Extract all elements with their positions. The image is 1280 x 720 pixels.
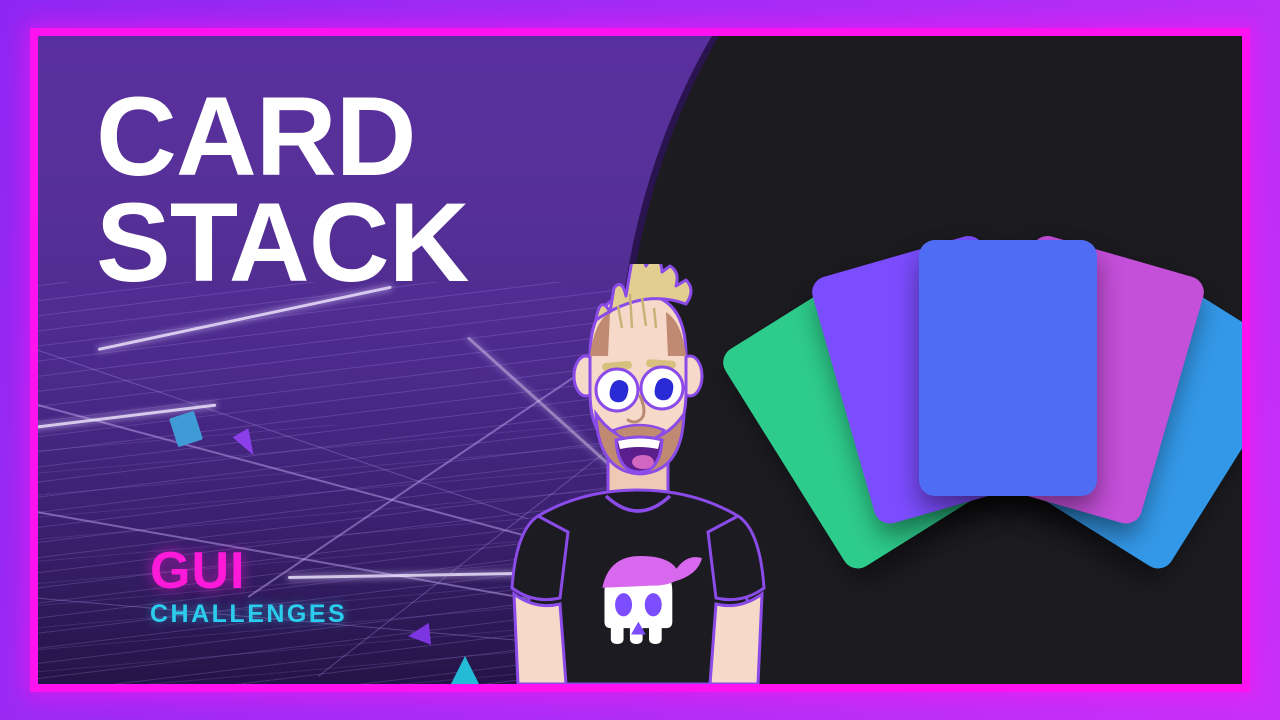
triangle-purple-lower-icon [407,623,431,647]
title-line-1: CARD [96,84,468,190]
mascot-developer [478,264,798,684]
card-blue-top[interactable] [919,240,1097,496]
sleeve-right [708,516,764,600]
card-stack [758,206,1242,606]
brand-logo: GUI CHALLENGES [150,548,347,629]
logo-primary-text: GUI [150,548,347,596]
stage: CARD STACK GUI CHALLENGES [38,36,1242,684]
title-line-2: STACK [96,190,468,296]
sleeve-left [512,516,568,600]
arm-right [710,594,762,684]
mascot-illustration [478,264,798,684]
tongue [632,455,654,469]
arm-left [514,594,566,684]
thumbnail-canvas: CARD STACK GUI CHALLENGES [0,0,1280,720]
page-title: CARD STACK [96,84,468,297]
triangle-cyan-icon [450,656,480,684]
logo-secondary-text: CHALLENGES [150,600,347,629]
